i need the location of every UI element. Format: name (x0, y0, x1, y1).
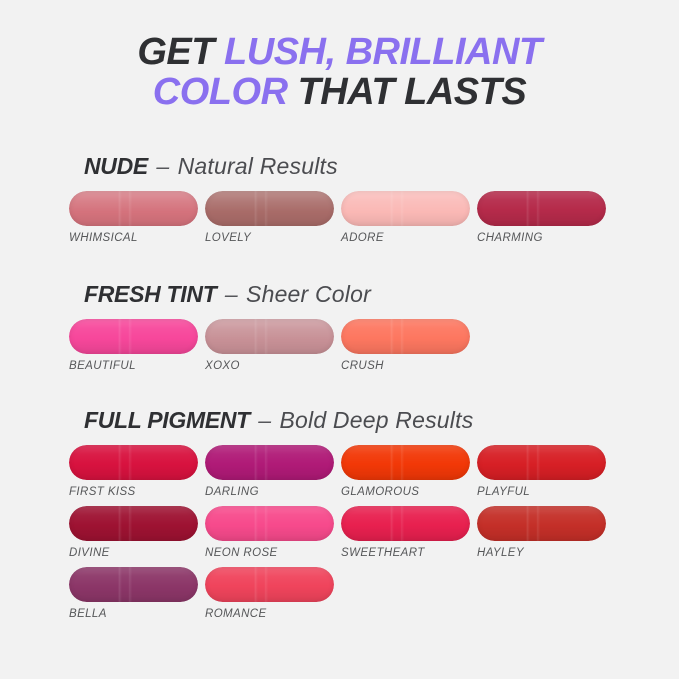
swatch-edge (69, 319, 198, 354)
color-swatch[interactable] (69, 506, 198, 541)
swatch-edge (69, 445, 198, 480)
shade-name-label: WHIMSICAL (69, 231, 198, 245)
shade-swatch-item[interactable]: FIRST KISS (69, 445, 198, 499)
section-title-dash: – (216, 281, 246, 307)
shade-name-label: ADORE (341, 231, 470, 245)
page-title-line-2-accent: COLOR (153, 71, 298, 113)
shade-name-label: NEON ROSE (205, 546, 334, 560)
swatch-edge (341, 445, 470, 480)
color-swatch[interactable] (477, 445, 606, 480)
shade-swatch-item[interactable]: ADORE (341, 191, 470, 245)
swatch-edge (69, 567, 198, 602)
swatch-row: BELLAROMANCE (69, 567, 629, 628)
shade-name-label: DARLING (205, 485, 334, 499)
swatch-row: FIRST KISSDARLINGGLAMOROUSPLAYFUL (69, 445, 629, 506)
shade-name-label: BELLA (69, 607, 198, 621)
shade-name-label: XOXO (205, 359, 334, 373)
swatch-edge (205, 319, 334, 354)
color-swatch[interactable] (205, 506, 334, 541)
shade-name-label: CHARMING (477, 231, 606, 245)
section-title: FULL PIGMENT – Bold Deep Results (84, 407, 679, 433)
shade-swatch-item[interactable]: ROMANCE (205, 567, 334, 621)
shade-name-label: FIRST KISS (69, 485, 198, 499)
swatch-grid: WHIMSICALLOVELYADORECHARMING (69, 191, 629, 252)
swatch-edge (205, 506, 334, 541)
page-title-line-1-plain: GET (137, 31, 224, 73)
color-swatch[interactable] (69, 445, 198, 480)
shade-name-label: HAYLEY (477, 546, 606, 560)
shade-swatch-item[interactable]: XOXO (205, 319, 334, 373)
section-title-name: NUDE (84, 153, 148, 179)
shade-swatch-item[interactable]: GLAMOROUS (341, 445, 470, 499)
color-swatch[interactable] (205, 567, 334, 602)
shade-swatch-item[interactable]: CHARMING (477, 191, 606, 245)
shade-swatch-item[interactable]: NEON ROSE (205, 506, 334, 560)
color-swatch[interactable] (341, 319, 470, 354)
shade-swatch-item[interactable]: PLAYFUL (477, 445, 606, 499)
section-title-subtitle: Natural Results (178, 153, 338, 179)
section-title-name: FULL PIGMENT (84, 407, 250, 433)
shade-name-label: CRUSH (341, 359, 470, 373)
page-title-line-1-accent: LUSH, BRILLIANT (224, 31, 542, 73)
section-title-name: FRESH TINT (84, 281, 216, 307)
color-swatch[interactable] (341, 191, 470, 226)
color-swatch[interactable] (477, 506, 606, 541)
page-title-line-1: GET LUSH, BRILLIANT (0, 32, 679, 72)
swatch-row: WHIMSICALLOVELYADORECHARMING (69, 191, 629, 252)
section-title: NUDE – Natural Results (84, 153, 679, 179)
shade-swatch-item[interactable]: SWEETHEART (341, 506, 470, 560)
swatch-grid: BEAUTIFULXOXOCRUSH (69, 319, 629, 380)
shade-section-nude: NUDE – Natural ResultsWHIMSICALLOVELYADO… (0, 153, 679, 252)
shade-name-label: GLAMOROUS (341, 485, 470, 499)
swatch-edge (477, 191, 606, 226)
shade-name-label: ROMANCE (205, 607, 334, 621)
shade-swatch-item[interactable]: LOVELY (205, 191, 334, 245)
swatch-row: BEAUTIFULXOXOCRUSH (69, 319, 629, 380)
shade-swatch-item[interactable]: DARLING (205, 445, 334, 499)
swatch-grid: FIRST KISSDARLINGGLAMOROUSPLAYFULDIVINEN… (69, 445, 629, 628)
swatch-edge (205, 445, 334, 480)
shade-name-label: BEAUTIFUL (69, 359, 198, 373)
swatch-row: DIVINENEON ROSESWEETHEARTHAYLEY (69, 506, 629, 567)
color-swatch[interactable] (69, 191, 198, 226)
shade-swatch-item[interactable]: DIVINE (69, 506, 198, 560)
page-title: GET LUSH, BRILLIANT COLOR THAT LASTS (0, 32, 679, 112)
color-swatch[interactable] (341, 506, 470, 541)
page-title-line-2-plain: THAT LASTS (298, 71, 527, 113)
swatch-edge (477, 506, 606, 541)
shade-name-label: LOVELY (205, 231, 334, 245)
color-swatch[interactable] (205, 319, 334, 354)
color-swatch[interactable] (69, 567, 198, 602)
swatch-edge (205, 191, 334, 226)
swatch-edge (341, 319, 470, 354)
swatch-edge (69, 191, 198, 226)
swatch-edge (477, 445, 606, 480)
shade-swatch-item[interactable]: HAYLEY (477, 506, 606, 560)
shade-chart-page: GET LUSH, BRILLIANT COLOR THAT LASTS NUD… (0, 0, 679, 679)
section-title-subtitle: Bold Deep Results (280, 407, 474, 433)
section-title-dash: – (250, 407, 280, 433)
shade-swatch-item[interactable]: CRUSH (341, 319, 470, 373)
color-swatch[interactable] (341, 445, 470, 480)
swatch-edge (341, 506, 470, 541)
shade-name-label: PLAYFUL (477, 485, 606, 499)
page-title-line-2: COLOR THAT LASTS (0, 72, 679, 112)
swatch-edge (69, 506, 198, 541)
swatch-edge (205, 567, 334, 602)
shade-section-fresh-tint: FRESH TINT – Sheer ColorBEAUTIFULXOXOCRU… (0, 281, 679, 380)
section-title-dash: – (148, 153, 178, 179)
color-swatch[interactable] (205, 191, 334, 226)
shade-swatch-item[interactable]: BEAUTIFUL (69, 319, 198, 373)
section-title-subtitle: Sheer Color (246, 281, 371, 307)
swatch-edge (341, 191, 470, 226)
shade-name-label: DIVINE (69, 546, 198, 560)
shade-swatch-item[interactable]: BELLA (69, 567, 198, 621)
shade-name-label: SWEETHEART (341, 546, 470, 560)
color-swatch[interactable] (205, 445, 334, 480)
color-swatch[interactable] (69, 319, 198, 354)
shade-swatch-item[interactable]: WHIMSICAL (69, 191, 198, 245)
shade-section-full-pigment: FULL PIGMENT – Bold Deep ResultsFIRST KI… (0, 407, 679, 628)
color-swatch[interactable] (477, 191, 606, 226)
section-title: FRESH TINT – Sheer Color (84, 281, 679, 307)
